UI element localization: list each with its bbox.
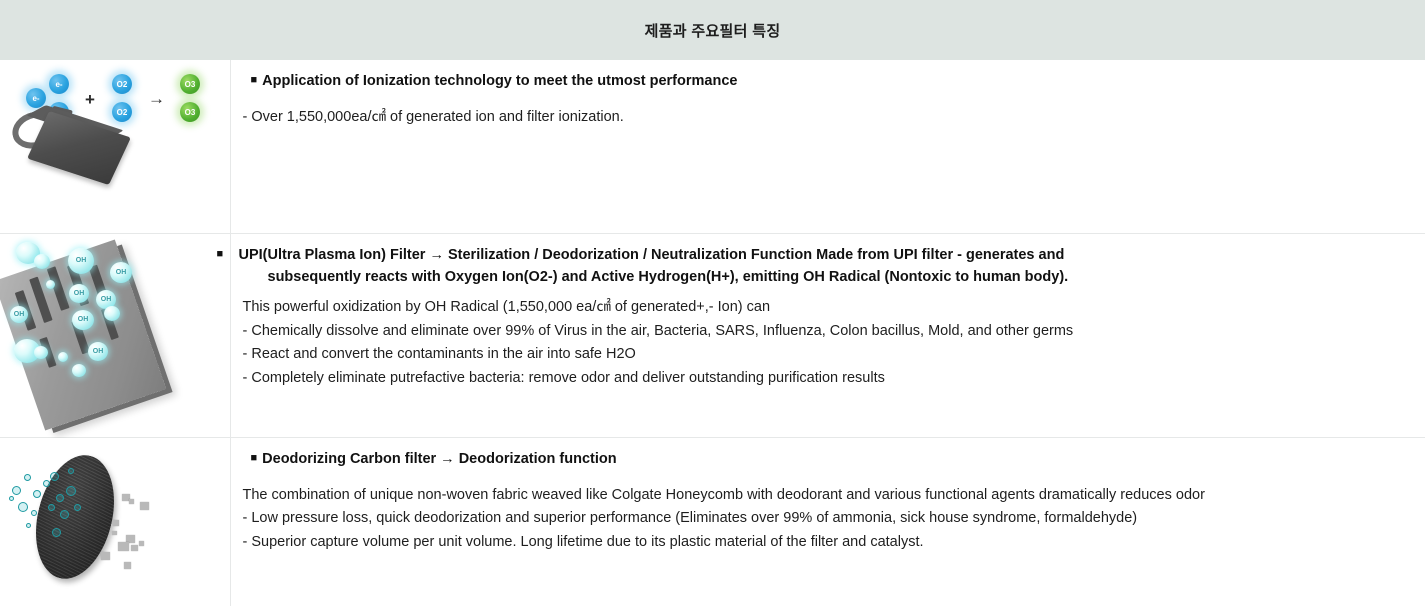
dust-particle-icon [112,531,117,535]
table-row: e- e- e- + O2 [0,60,1425,233]
odor-particle-icon [24,474,31,481]
deodorizing-carbon-disc-diagram [0,438,230,606]
odor-particle-icon [74,504,81,511]
odor-particle-icon [33,490,41,498]
electron-molecule-icon: e- [49,74,69,94]
upi-filter-plate-diagram: OH OH OH OH OH [0,234,230,437]
reaction-arrow-icon: → [148,89,165,109]
dust-particle-icon [101,552,110,560]
oh-radical-bubble-icon: OH [110,262,132,283]
dust-particle-icon [131,545,138,551]
table-row: ■Deodorizing Carbon filter → Deodorizati… [0,437,1425,606]
dust-particle-icon [113,520,119,526]
dust-particle-icon [124,562,131,569]
oh-radical-bubble-icon [72,364,86,377]
carbon-filter-illustration-cell [0,437,230,606]
feature-body: The combination of unique non-woven fabr… [239,484,1422,554]
body-line: - Chemically dissolve and eliminate over… [243,320,1422,343]
body-line: - Completely eliminate putrefactive bact… [243,367,1422,390]
oh-radical-bubble-icon [104,306,120,321]
dust-particle-icon [139,541,144,546]
oh-radical-bubble-icon: OH [69,284,89,303]
oh-radical-bubble-icon: OH [88,342,108,361]
odor-particle-icon [68,468,74,474]
oh-radical-bubble-icon: OH [72,310,94,330]
product-filter-features-page: 제품과 주요필터 특징 e- e- e- [0,0,1425,606]
feature-heading: ■UPI(Ultra Plasma Ion) Filter → Steriliz… [239,244,1422,289]
odor-particle-icon [31,510,37,516]
oh-radical-bubble-icon: OH [68,248,94,274]
dust-particle-icon [129,499,134,504]
body-intro: This powerful oxidization by OH Radical … [243,296,1422,319]
odor-particle-icon [66,486,76,496]
feature-heading: ■Deodorizing Carbon filter → Deodorizati… [239,448,1422,470]
feature-body: This powerful oxidization by OH Radical … [239,296,1422,390]
bullet-square-icon: ■ [251,75,258,86]
upi-filter-text-cell: ■UPI(Ultra Plasma Ion) Filter → Steriliz… [230,233,1425,437]
body-intro: The combination of unique non-woven fabr… [243,484,1422,507]
body-line: - Superior capture volume per unit volum… [243,531,1422,554]
oh-radical-bubble-icon: OH [10,306,28,323]
table-row: OH OH OH OH OH [0,233,1425,437]
ozone-molecule-icon: O3 [180,74,200,94]
odor-particle-icon [52,528,61,537]
odor-particle-icon [26,523,31,528]
ionization-illustration-cell: e- e- e- + O2 [0,60,230,233]
upi-filter-illustration-cell: OH OH OH OH OH [0,233,230,437]
feature-heading-line-2: subsequently reacts with Oxygen Ion(O2-)… [251,266,1342,288]
carbon-filter-text-cell: ■Deodorizing Carbon filter → Deodorizati… [230,437,1425,606]
feature-body: - Over 1,550,000ea/㎠ of generated ion an… [239,106,1422,129]
ionizer-device-icon [27,111,131,185]
carbon-filter-disc-icon [24,446,126,586]
page-title: 제품과 주요필터 특징 [645,20,781,41]
odor-particle-icon [12,486,21,495]
body-line: - React and convert the contaminants in … [243,343,1422,366]
oh-radical-bubble-icon [34,346,48,359]
ionization-diagram: e- e- e- + O2 [0,60,230,233]
feature-heading-text: Deodorizing Carbon filter → Deodorizatio… [262,451,616,467]
odor-particle-icon [43,480,50,487]
oh-radical-bubble-icon [58,352,68,362]
feature-heading-line-1: UPI(Ultra Plasma Ion) Filter → Steriliza… [239,247,1065,263]
odor-particle-icon [9,496,14,501]
ozone-molecule-icon: O3 [180,102,200,122]
body-line: - Over 1,550,000ea/㎠ of generated ion an… [243,106,1422,129]
odor-particle-icon [56,494,64,502]
dust-particle-icon [140,502,149,510]
odor-particle-icon [48,504,55,511]
oxygen-molecule-icon: O2 [112,74,132,94]
plus-operator-icon: + [85,90,95,110]
electron-molecule-icon: e- [26,88,46,108]
odor-particle-icon [50,472,59,481]
bullet-square-icon: ■ [251,453,258,464]
odor-particle-icon [18,502,28,512]
feature-heading-text: Application of Ionization technology to … [262,73,737,89]
body-line: - Low pressure loss, quick deodorization… [243,507,1422,530]
feature-heading: ■Application of Ionization technology to… [239,70,1422,92]
ionization-text-cell: ■Application of Ionization technology to… [230,60,1425,233]
oxygen-molecule-icon: O2 [112,102,132,122]
features-table: e- e- e- + O2 [0,60,1425,606]
dust-particle-icon [118,542,129,551]
odor-particle-icon [60,510,69,519]
page-header: 제품과 주요필터 특징 [0,0,1425,60]
oh-radical-bubble-icon [46,280,55,289]
oh-radical-bubble-icon [34,254,50,269]
